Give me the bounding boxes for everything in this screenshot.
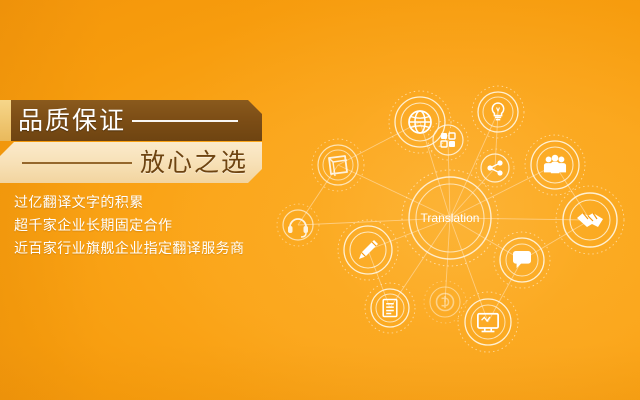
banner-title-top: 品质保证 [18,108,126,133]
tagline-line-1: 过亿翻译文字的积累 [14,192,244,215]
headset-icon [288,219,308,237]
lightbulb-icon [492,103,503,120]
quality-banner: 品质保证 放心之选 [0,100,262,183]
network-center-node[interactable]: Translation [402,170,498,266]
network-node-globe[interactable] [389,91,451,153]
network-node-chat[interactable] [494,232,550,288]
banner-bottom-rule [22,162,132,164]
tagline-line-2: 超千家企业长期固定合作 [14,215,244,238]
banner-bottom-bar: 放心之选 [0,142,262,183]
banner-top-rule [132,120,238,122]
globe-icon [409,111,431,133]
translation-network-diagram: Translation [290,70,640,320]
pencil-icon [359,240,378,259]
people-icon [544,155,566,173]
coin-icon [437,294,454,311]
book-icon [329,156,347,176]
monitor-icon [478,314,498,332]
network-node-coin[interactable] [424,281,466,323]
banner-title-bottom: 放心之选 [140,150,248,175]
banner-stage: Translation [0,0,640,400]
network-node-people[interactable] [525,135,585,195]
tagline-line-3: 近百家行业旗舰企业指定翻译服务商 [14,238,244,261]
tagline-list: 过亿翻译文字的积累 超千家企业长期固定合作 近百家行业旗舰企业指定翻译服务商 [14,192,244,261]
network-node-lightbulb[interactable] [472,86,524,138]
network-node-pencil[interactable] [338,220,398,280]
chat-icon [513,251,531,268]
banner-top-bar: 品质保证 [0,100,262,141]
network-center-label: Translation [421,211,480,225]
